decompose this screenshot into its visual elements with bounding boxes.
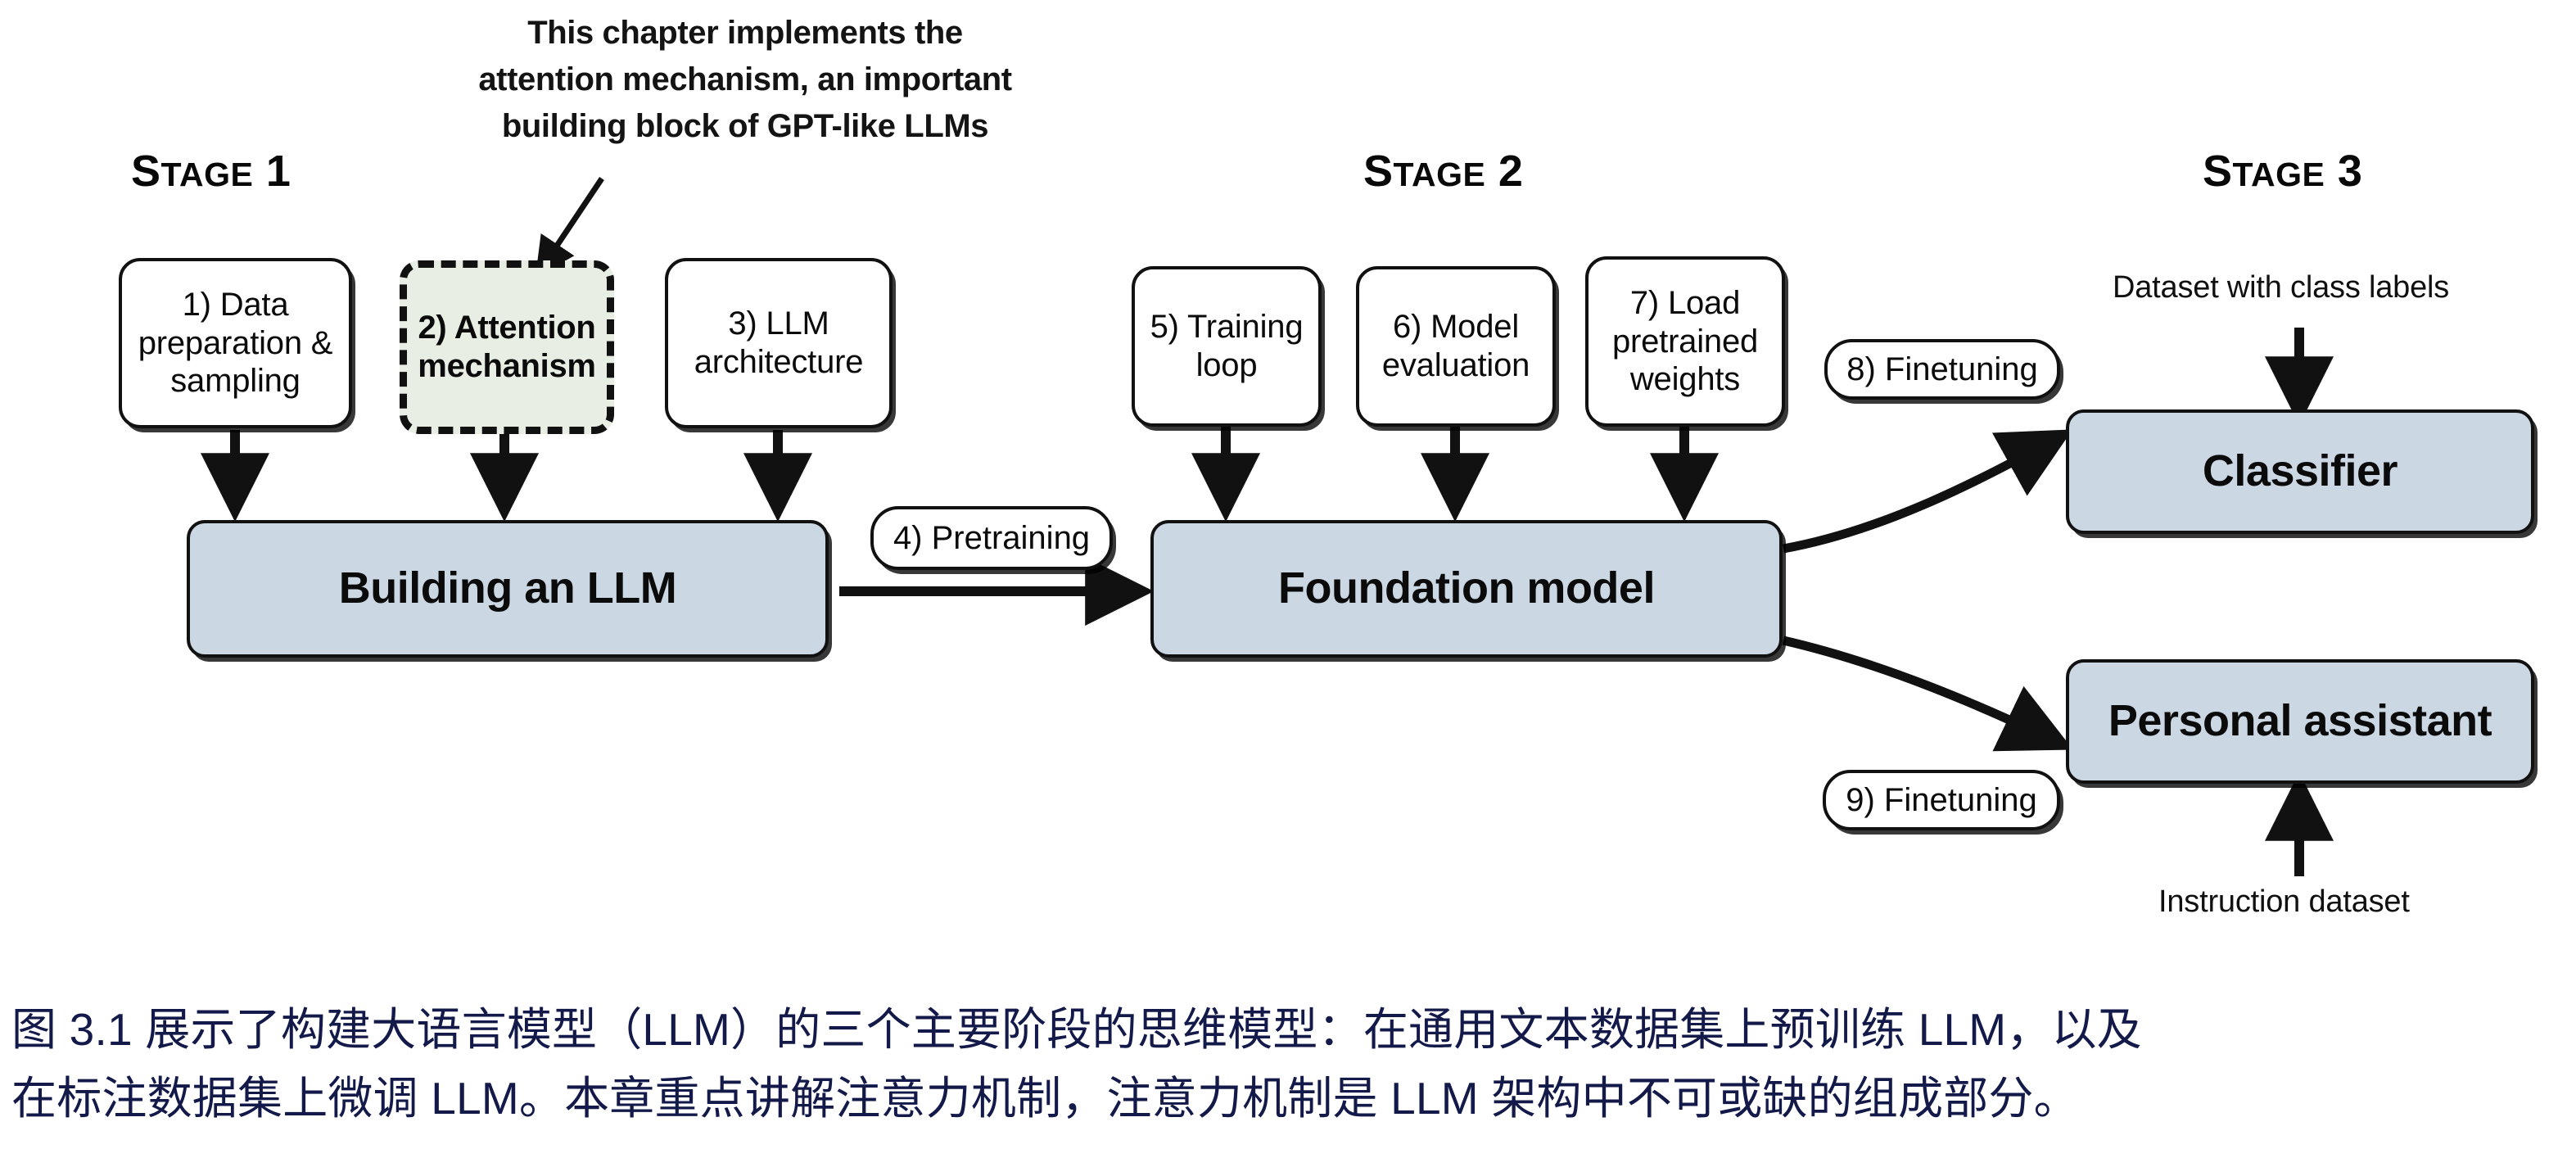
- stage-heading-1: STAGE 1: [131, 146, 291, 197]
- callout-note-line-1: This chapter implements the: [459, 10, 1032, 57]
- label-instruction-dataset: Instruction dataset: [2158, 884, 2410, 920]
- main-box-building-an-llm[interactable]: Building an LLM: [187, 520, 829, 658]
- transition-pill-pretraining[interactable]: 4) Pretraining: [870, 506, 1113, 570]
- main-box-building-an-llm-label: Building an LLM: [339, 563, 676, 614]
- transition-pill-pretraining-label: 4) Pretraining: [893, 519, 1090, 558]
- stage-1-num-value: 1: [266, 147, 291, 196]
- step-box-data-preparation[interactable]: 1) Data preparation & sampling: [119, 258, 352, 428]
- stage-3-num-value: 3: [2338, 147, 2363, 196]
- main-box-foundation-model-label: Foundation model: [1278, 563, 1655, 614]
- stage-2-num-value: 2: [1498, 147, 1524, 196]
- label-dataset-with-class-labels-text: Dataset with class labels: [2113, 270, 2449, 305]
- step-box-attention-mechanism[interactable]: 2) Attention mechanism: [400, 260, 614, 434]
- stage-1-rest: TAGE: [161, 156, 254, 193]
- transition-pill-finetuning-assistant[interactable]: 9) Finetuning: [1823, 770, 2060, 830]
- step-box-training-loop-label: 5) Training loop: [1143, 308, 1310, 385]
- callout-arrow: [540, 179, 602, 270]
- label-dataset-with-class-labels: Dataset with class labels: [2113, 270, 2449, 305]
- stage-3-space: [2325, 147, 2338, 196]
- callout-note-line-2: attention mechanism, an important: [459, 57, 1032, 103]
- step-box-data-preparation-label: 1) Data preparation & sampling: [130, 286, 341, 400]
- stage-1-first: S: [131, 147, 161, 196]
- figure-diagram: This chapter implements the attention me…: [0, 0, 2576, 966]
- callout-note: This chapter implements the attention me…: [459, 10, 1032, 151]
- stage-2-first: S: [1363, 147, 1394, 196]
- stage-3-rest: TAGE: [2233, 156, 2325, 193]
- transition-pill-finetuning-classifier-label: 8) Finetuning: [1846, 351, 2037, 389]
- figure-caption-line-2: 在标注数据集上微调 LLM。本章重点讲解注意力机制，注意力机制是 LLM 架构中…: [11, 1065, 2566, 1133]
- step-box-model-evaluation[interactable]: 6) Model evaluation: [1356, 266, 1556, 427]
- main-box-classifier-label: Classifier: [2203, 446, 2397, 497]
- stage-1-number: [253, 147, 266, 196]
- step-box-llm-architecture-label: 3) LLM architecture: [676, 305, 881, 382]
- arrow-foundation-to-classifier: [1783, 438, 2057, 549]
- transition-pill-finetuning-assistant-label: 9) Finetuning: [1846, 781, 2036, 820]
- step-box-llm-architecture[interactable]: 3) LLM architecture: [665, 258, 893, 428]
- callout-note-line-3: building block of GPT-like LLMs: [459, 103, 1032, 150]
- figure-caption: 图 3.1 展示了构建大语言模型（LLM）的三个主要阶段的思维模型：在通用文本数…: [11, 996, 2566, 1133]
- step-box-training-loop[interactable]: 5) Training loop: [1132, 266, 1322, 427]
- stage-heading-3: STAGE 3: [2203, 146, 2362, 197]
- main-box-foundation-model[interactable]: Foundation model: [1150, 520, 1783, 658]
- main-box-personal-assistant[interactable]: Personal assistant: [2066, 659, 2534, 784]
- main-box-classifier[interactable]: Classifier: [2066, 409, 2534, 534]
- stage-heading-2: STAGE 2: [1363, 146, 1523, 197]
- stage-3-first: S: [2203, 147, 2233, 196]
- label-instruction-dataset-text: Instruction dataset: [2158, 884, 2410, 919]
- transition-pill-finetuning-classifier[interactable]: 8) Finetuning: [1824, 339, 2060, 400]
- step-box-attention-mechanism-label: 2) Attention mechanism: [407, 309, 607, 386]
- arrow-foundation-to-assistant: [1783, 640, 2057, 742]
- step-box-load-pretrained-weights[interactable]: 7) Load pretrained weights: [1585, 256, 1785, 427]
- stage-2-space: [1485, 147, 1498, 196]
- step-box-model-evaluation-label: 6) Model evaluation: [1367, 308, 1544, 385]
- main-box-personal-assistant-label: Personal assistant: [2108, 695, 2492, 747]
- stage-2-rest: TAGE: [1394, 156, 1486, 193]
- figure-caption-line-1: 图 3.1 展示了构建大语言模型（LLM）的三个主要阶段的思维模型：在通用文本数…: [11, 996, 2566, 1065]
- step-box-load-pretrained-weights-label: 7) Load pretrained weights: [1597, 284, 1774, 399]
